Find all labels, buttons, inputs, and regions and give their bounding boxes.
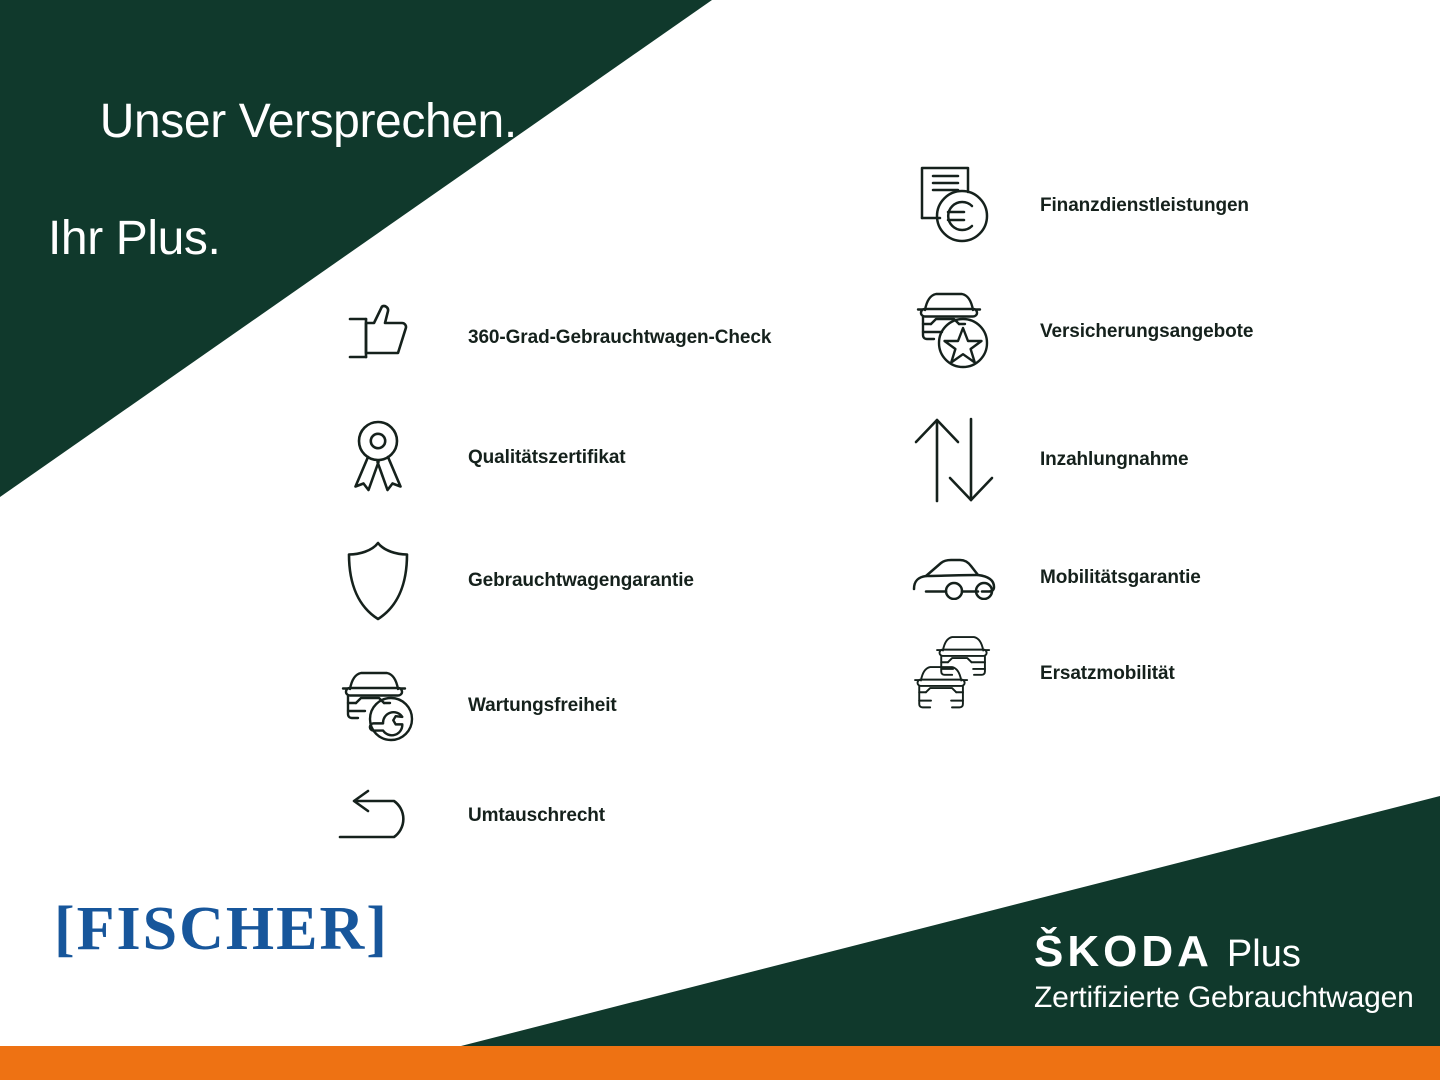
- feature-item-360-check: 360-Grad-Gebrauchtwagen-Check: [332, 292, 771, 384]
- headline-line-2: Ihr Plus.: [48, 210, 517, 269]
- car-wrench-icon: [332, 660, 424, 752]
- feature-label: Qualitätszertifikat: [468, 447, 626, 469]
- feature-label: Finanzdienstleistungen: [1040, 195, 1249, 217]
- feature-label: Gebrauchtwagengarantie: [468, 570, 694, 592]
- thumbs-up-icon: [332, 292, 424, 384]
- car-side-icon: [908, 532, 1000, 624]
- feature-label: Inzahlungnahme: [1040, 449, 1189, 471]
- feature-item-mobility-guarantee: Mobilitätsgarantie: [908, 532, 1201, 624]
- feature-item-quality-certificate: Qualitätszertifikat: [332, 412, 626, 504]
- feature-label: Umtauschrecht: [468, 805, 605, 827]
- up-down-arrows-icon: [908, 414, 1000, 506]
- shield-icon: [332, 535, 424, 627]
- return-arrow-icon: [332, 770, 424, 862]
- orange-bottom-bar: [0, 1046, 1440, 1080]
- feature-item-warranty: Gebrauchtwagengarantie: [332, 535, 694, 627]
- two-cars-icon: [908, 628, 1000, 720]
- skoda-plus-suffix: Plus: [1227, 935, 1301, 973]
- headline-line-1: Unser Versprechen.: [100, 95, 517, 148]
- skoda-logo-row: ŠKODA Plus: [1034, 930, 1414, 974]
- skoda-wordmark: ŠKODA: [1034, 930, 1213, 974]
- document-euro-icon: [908, 160, 1000, 252]
- dealer-logo: [FISCHER]: [54, 898, 389, 960]
- promo-banner: Unser Versprechen. Ihr Plus. 360-Grad-Ge…: [0, 0, 1440, 1080]
- feature-label: Ersatzmobilität: [1040, 663, 1175, 685]
- feature-item-trade-in: Inzahlungnahme: [908, 414, 1189, 506]
- feature-item-insurance-offers: Versicherungsangebote: [908, 286, 1253, 378]
- car-star-icon: [908, 286, 1000, 378]
- feature-item-financial-services: Finanzdienstleistungen: [908, 160, 1249, 252]
- feature-item-right-of-exchange: Umtauschrecht: [332, 770, 605, 862]
- feature-label: Mobilitätsgarantie: [1040, 567, 1201, 589]
- feature-item-maintenance-free: Wartungsfreiheit: [332, 660, 617, 752]
- skoda-tagline: Zertifizierte Gebrauchtwagen: [1034, 983, 1414, 1013]
- feature-label: Wartungsfreiheit: [468, 695, 617, 717]
- feature-label: Versicherungsangebote: [1040, 321, 1253, 343]
- award-rosette-icon: [332, 412, 424, 504]
- skoda-plus-logo: ŠKODA Plus Zertifizierte Gebrauchtwagen: [1034, 930, 1414, 1013]
- feature-item-replacement-mobility: Ersatzmobilität: [908, 628, 1175, 720]
- feature-label: 360-Grad-Gebrauchtwagen-Check: [468, 327, 771, 349]
